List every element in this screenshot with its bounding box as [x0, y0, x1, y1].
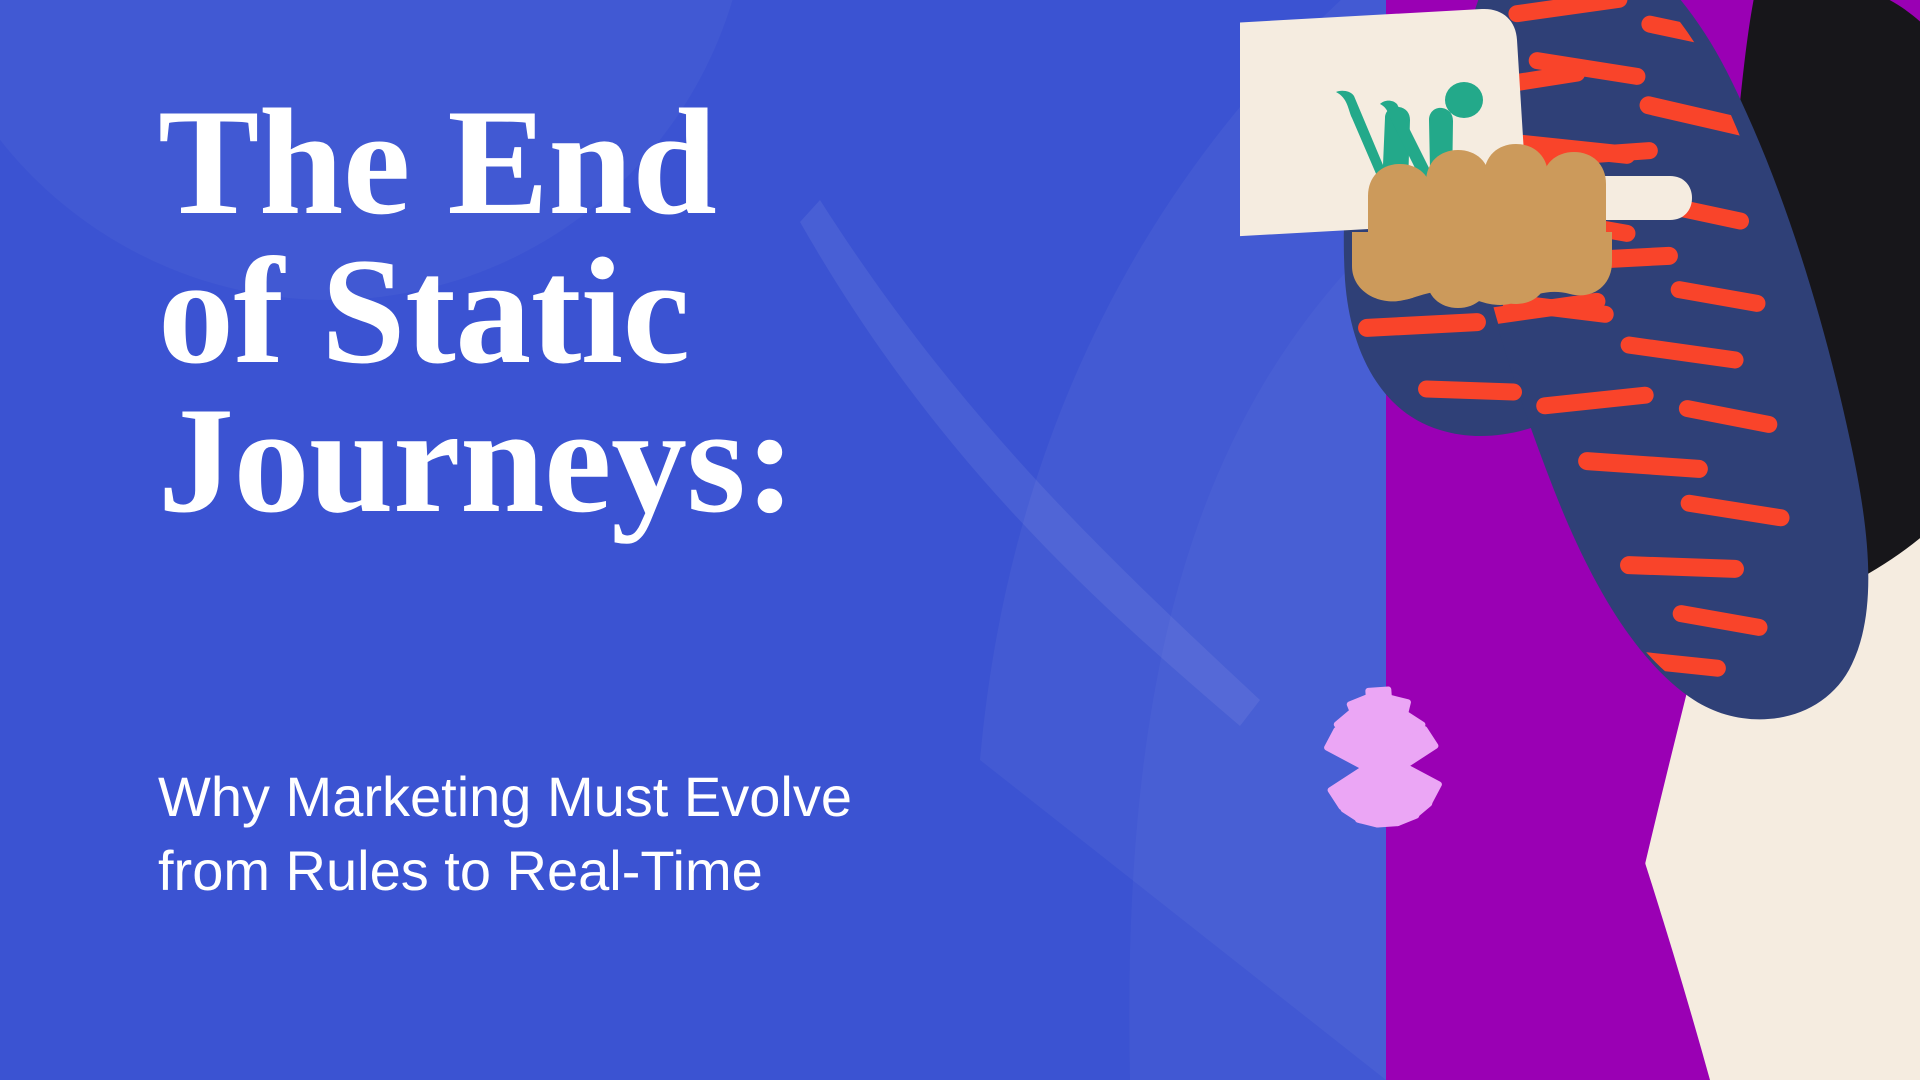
title-block: The End of Static Journeys:: [158, 88, 1158, 535]
page-title: The End of Static Journeys:: [158, 88, 1158, 535]
hand-fingers: [1352, 144, 1612, 308]
hero-illustration: [1240, 0, 1920, 1080]
slide-canvas: The End of Static Journeys: Why Marketin…: [0, 0, 1920, 1080]
page-subtitle: Why Marketing Must Evolve from Rules to …: [158, 760, 1138, 908]
